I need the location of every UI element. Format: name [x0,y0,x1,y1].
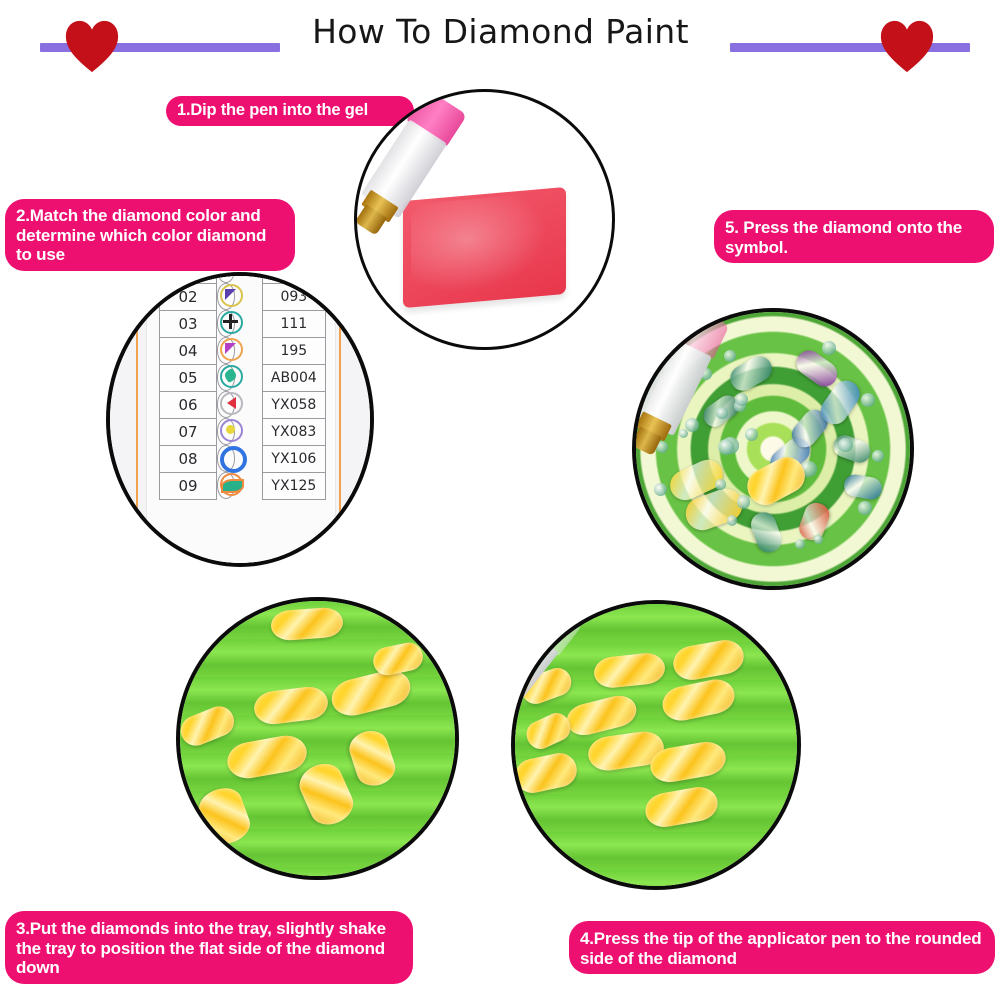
color-chart-row: 07YX083 [160,418,325,445]
canvas-symbol-dot [727,515,737,525]
photo-backdrop [515,604,797,886]
chart-row-symbol-cell [217,445,236,472]
double-dot-icon [220,272,239,276]
diamond [224,732,309,781]
chart-row-symbol-cell [217,272,236,283]
canvas-symbol-dot [745,428,758,441]
diamond [194,782,254,849]
gel-wax-pad [403,187,566,308]
color-chart-table: 0102802093031110419505AB00406YX05807YX08… [159,272,325,500]
chart-row-number: 05 [160,364,216,391]
canvas-symbol-dot [795,539,805,549]
chart-row-symbol-cell [217,472,236,499]
step-4-label: 4.Press the tip of the applicator pen to… [569,921,995,974]
canvas-symbol-dot [679,429,688,438]
diamond [328,666,414,720]
chart-row-code: 111 [262,310,325,337]
plus-icon [220,311,243,334]
step-5-label: 5. Press the diamond onto the symbol. [714,210,994,263]
chart-row-number: 02 [160,283,216,310]
canvas-symbol-dot [861,393,876,408]
canvas-symbol-dot [654,483,667,496]
diamond [293,757,358,830]
chart-margin-line [339,272,341,567]
diamond-group [180,601,455,876]
dot-icon [220,419,243,442]
triangle-icon [220,338,243,361]
canvas-symbol-dot [822,341,836,355]
color-chart-row: 03111 [160,310,325,337]
chart-row-number: 06 [160,391,216,418]
chart-row-number: 03 [160,310,216,337]
chart-row-number: 01 [160,272,216,283]
chart-row-number: 09 [160,472,216,499]
color-chart-row: 04195 [160,337,325,364]
diamond [176,702,238,751]
arrow-left-icon [220,392,243,415]
photo-backdrop [180,601,455,876]
canvas-symbol-dot [868,563,882,577]
chart-row-number: 04 [160,337,216,364]
diamond [370,640,424,677]
chart-margin-line [136,272,138,567]
canvas-symbol-dot [715,479,726,490]
canvas-symbol-dot [838,438,853,453]
canvas-symbol-dot [718,439,734,455]
photo-backdrop [357,92,612,347]
placed-diamond [843,473,885,501]
canvas-symbol-dot [737,495,750,508]
color-chart-row: 09YX125 [160,472,325,499]
triangle-icon [220,284,243,307]
diamond [253,685,331,727]
photo-color-chart: 0102802093031110419505AB00406YX05807YX08… [106,272,374,567]
canvas-symbol-dot [858,501,872,515]
chart-row-code: 093 [262,283,325,310]
placed-diamond [831,432,875,466]
step-3-label: 3.Put the diamonds into the tray, slight… [5,911,413,984]
chart-row-symbol-cell [217,418,236,445]
chart-row-symbol-cell [217,337,236,364]
chart-row-symbol-cell [217,391,236,418]
chart-row-number: 07 [160,418,216,445]
chart-row-code: 195 [262,337,325,364]
diamond [659,676,738,724]
placed-diamond [748,509,785,556]
color-chart-sheet: 0102802093031110419505AB00406YX05807YX08… [110,276,370,563]
page-title: How To Diamond Paint [0,12,1001,51]
photo-place-on-symbol [632,308,914,590]
page-header: How To Diamond Paint [0,0,1001,90]
color-chart-row: 05AB004 [160,364,325,391]
photo-pen-picks-diamond [511,600,801,890]
diamond [270,607,343,642]
leaf-icon [220,473,243,496]
step-2-label: 2.Match the diamond color and determine … [5,199,295,271]
canvas-symbol-dot [814,535,823,544]
chart-row-symbol-cell [217,310,236,337]
photo-pen-in-gel [354,89,615,350]
photo-diamonds-in-tray [176,597,459,880]
color-chart-row: 06YX058 [160,391,325,418]
chart-row-number: 08 [160,445,216,472]
ring-icon [220,446,247,473]
chart-row-code: YX058 [262,391,325,418]
diamond [593,651,666,689]
canvas-symbol-dot [716,407,727,418]
diamond [512,750,580,796]
color-chart-row: 01028 [160,272,325,283]
diamond [671,638,746,684]
diamond [642,784,720,830]
diamond [346,726,400,790]
chart-row-code: 028 [262,272,325,283]
color-chart-row: 08YX106 [160,445,325,472]
chart-row-code: YX125 [262,472,325,499]
canvas-symbol-dot [872,450,884,462]
photo-backdrop [636,312,910,586]
canvas-symbol-dot [735,393,748,406]
chart-row-symbol-cell [217,364,236,391]
chart-row-code: YX106 [262,445,325,472]
diamond [563,692,639,739]
chart-row-symbol-cell [217,283,236,310]
chart-row-code: AB004 [262,364,325,391]
blob-icon [220,365,243,388]
color-chart-row: 02093 [160,283,325,310]
canvas-symbol-dot [724,350,736,362]
chart-row-code: YX083 [262,418,325,445]
